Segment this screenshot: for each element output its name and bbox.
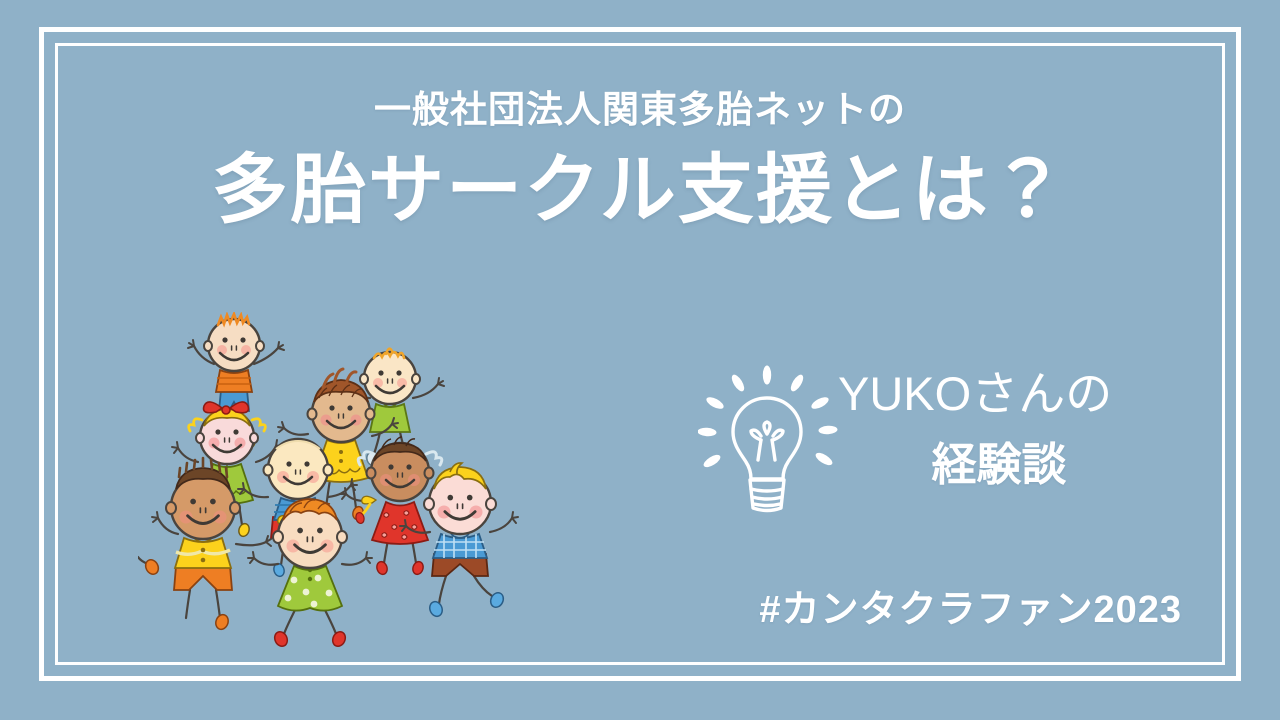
slide-subtitle: 一般社団法人関東多胎ネットの: [0, 88, 1280, 132]
happy-children-illustration: [138, 312, 542, 652]
testimonial-speaker: YUKOさんの: [838, 368, 1160, 420]
testimonial-label: 経験談: [838, 440, 1160, 490]
heading-group: 一般社団法人関東多胎ネットの 多胎サークル支援とは？: [0, 88, 1280, 236]
child-bottom-center: [248, 499, 372, 648]
lightbulb-icon: [698, 362, 838, 520]
testimonial-block: YUKOさんの 経験談: [690, 360, 1160, 520]
slide-canvas: 一般社団法人関東多胎ネットの 多胎サークル支援とは？: [0, 0, 1280, 720]
campaign-hashtag: #カンタクラファン2023: [640, 578, 1200, 633]
slide-title: 多胎サークル支援とは？: [0, 146, 1280, 236]
child-bottom-left: [138, 458, 271, 631]
